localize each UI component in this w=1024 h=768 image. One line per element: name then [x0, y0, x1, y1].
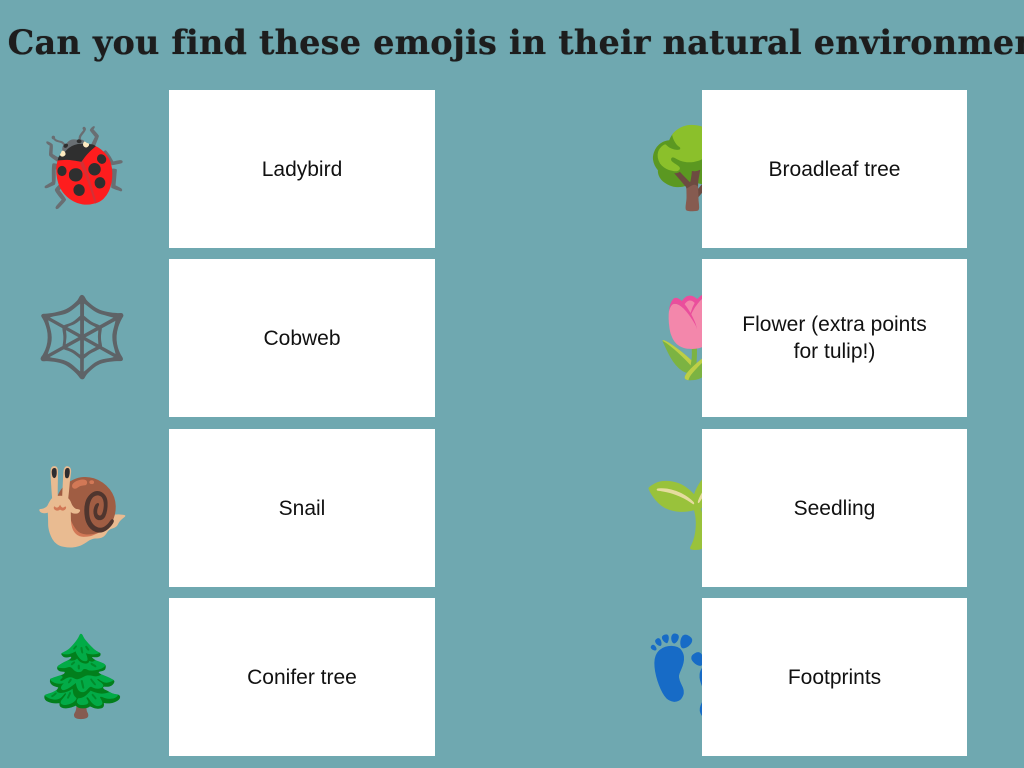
answer-card-label: Broadleaf tree	[769, 156, 901, 183]
emoji-card-pair: 🐞 Ladybird	[0, 90, 512, 248]
answer-card[interactable]: Ladybird	[169, 90, 435, 248]
page-title: Can you find these emojis in their natur…	[8, 21, 1017, 65]
answer-card-label: Cobweb	[263, 325, 340, 352]
emoji-card-pair: 🌱 Seedling	[512, 429, 1024, 587]
emoji-card-pair: 🌳 Broadleaf tree	[512, 90, 1024, 248]
answer-card[interactable]: Seedling	[702, 429, 967, 587]
emoji-card-pair: 🕸️ Cobweb	[0, 259, 512, 417]
answer-card-label: Footprints	[788, 664, 881, 691]
emoji-card-pair: 🌲 Conifer tree	[0, 598, 512, 756]
emoji-card-pair: 🐌 Snail	[0, 429, 512, 587]
evergreen-tree-emoji: 🌲	[2, 598, 162, 756]
slide-canvas: Can you find these emojis in their natur…	[0, 0, 1024, 768]
answer-card-label: Snail	[279, 495, 326, 522]
answer-card[interactable]: Snail	[169, 429, 435, 587]
answer-card-label: Seedling	[794, 495, 876, 522]
answer-card[interactable]: Footprints	[702, 598, 967, 756]
answer-card-label: Ladybird	[262, 156, 343, 183]
answer-card[interactable]: Conifer tree	[169, 598, 435, 756]
emoji-card-pair: 🌷 Flower (extra points for tulip!)	[512, 259, 1024, 417]
answer-card[interactable]: Cobweb	[169, 259, 435, 417]
answer-card-label: Conifer tree	[247, 664, 357, 691]
answer-card[interactable]: Broadleaf tree	[702, 90, 967, 248]
emoji-card-pair: 👣 Footprints	[512, 598, 1024, 756]
snail-emoji: 🐌	[2, 429, 162, 587]
ladybug-emoji: 🐞	[2, 90, 162, 248]
answer-card[interactable]: Flower (extra points for tulip!)	[702, 259, 967, 417]
spider-web-emoji: 🕸️	[2, 259, 162, 417]
answer-card-label: Flower (extra points for tulip!)	[742, 311, 926, 365]
